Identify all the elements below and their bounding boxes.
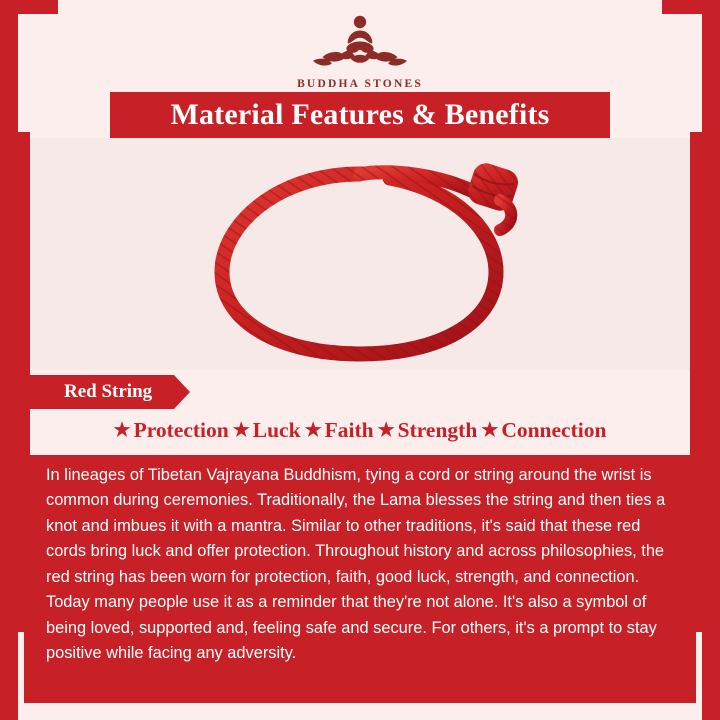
product-label-tab: Red String: [30, 375, 190, 409]
product-image-area: [30, 138, 690, 370]
star-icon: ★: [481, 421, 498, 440]
product-label-body: Red String: [30, 375, 174, 409]
left-border-bottom: [0, 632, 18, 720]
infographic-page: BUDDHA STONES Material Features & Benefi…: [0, 0, 720, 720]
product-label-text: Red String: [64, 381, 152, 403]
benefit-label: Protection: [134, 420, 229, 442]
benefit-item: ★ Faith: [303, 420, 376, 442]
benefit-item: ★ Luck: [231, 420, 303, 442]
benefit-item: ★ Strength: [376, 420, 480, 442]
benefit-item: ★ Connection: [479, 420, 608, 442]
star-icon: ★: [114, 421, 131, 440]
benefit-label: Luck: [253, 420, 301, 442]
benefits-row: ★ Protection ★ Luck ★ Faith ★ Strength ★…: [30, 420, 690, 442]
page-title: Material Features & Benefits: [170, 98, 549, 132]
lotus-meditation-icon: [0, 12, 720, 75]
star-icon: ★: [378, 421, 395, 440]
brand-logo: BUDDHA STONES: [0, 12, 720, 90]
star-icon: ★: [233, 421, 250, 440]
brand-name: BUDDHA STONES: [0, 78, 720, 90]
product-label-arrow: [174, 375, 190, 409]
benefit-label: Strength: [398, 420, 478, 442]
star-icon: ★: [305, 421, 322, 440]
right-border-bottom: [702, 632, 720, 720]
benefit-label: Faith: [325, 420, 374, 442]
benefit-label: Connection: [501, 420, 606, 442]
title-banner: Material Features & Benefits: [110, 92, 610, 138]
benefit-item: ★ Protection: [112, 420, 231, 442]
description-text: In lineages of Tibetan Vajrayana Buddhis…: [46, 463, 676, 666]
description-block: In lineages of Tibetan Vajrayana Buddhis…: [24, 455, 696, 703]
